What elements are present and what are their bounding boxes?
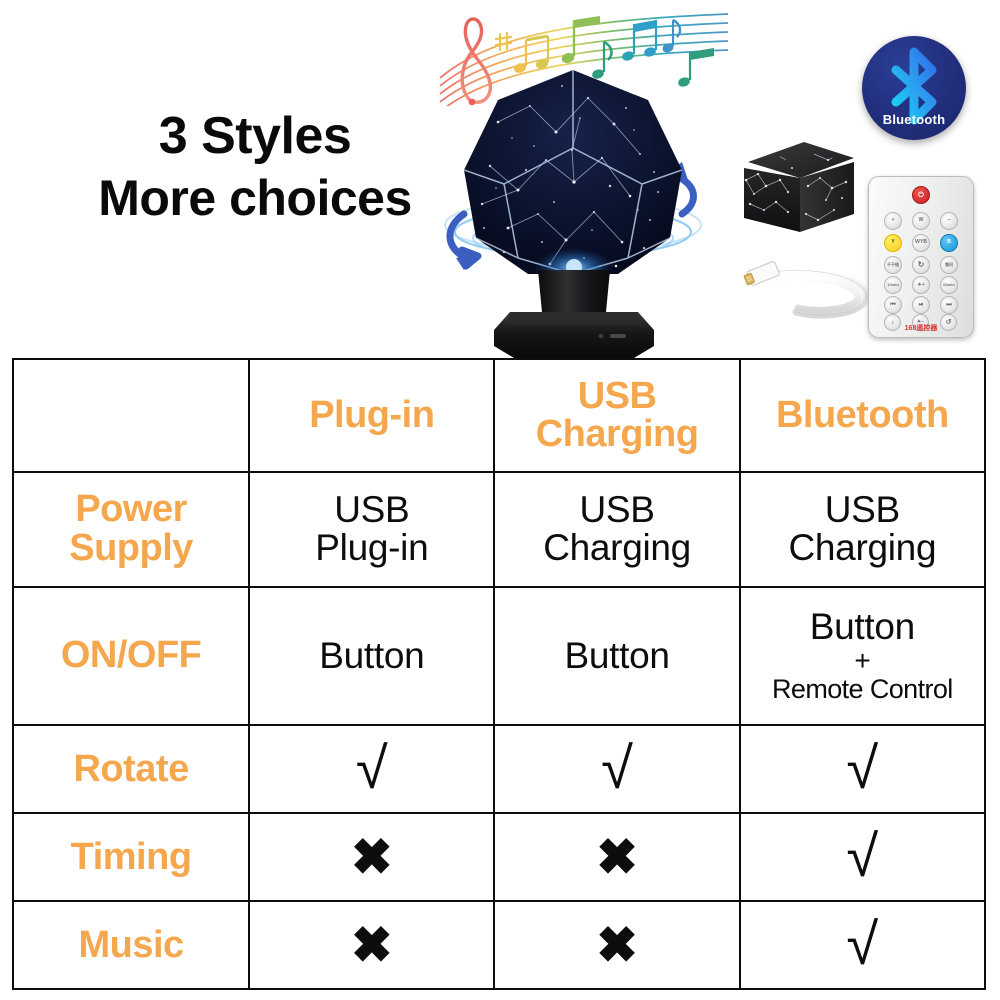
remote-power-button[interactable]: ⏻ bbox=[912, 186, 930, 204]
table-row: Power Supply USB Plug-in USB Charging US… bbox=[13, 472, 985, 587]
cell-on-off-plug-in: Button bbox=[249, 587, 494, 725]
hero-headline: 3 Styles More choices bbox=[55, 105, 455, 229]
cell-on-off-bluetooth: Button + Remote Control bbox=[740, 587, 985, 725]
remote-model-label: 168遥控器 bbox=[868, 323, 974, 333]
cell-music-bluetooth: √ bbox=[740, 901, 985, 989]
check-icon: √ bbox=[846, 740, 878, 798]
headline-line-2: More choices bbox=[55, 168, 455, 229]
table-row: ON/OFF Button Button Button + Remote Con… bbox=[13, 587, 985, 725]
bluetooth-badge: Bluetooth bbox=[862, 36, 966, 140]
remote-y-button[interactable]: Y bbox=[884, 234, 902, 252]
cell-music-plug-in: ✖ bbox=[249, 901, 494, 989]
remote-control: ⏻ + W − Y WYB B 干干结 ↻ 慢闪 10min ☀+ 60min … bbox=[868, 176, 974, 338]
remote-b-button[interactable]: B bbox=[940, 234, 958, 252]
cell-timing-bluetooth: √ bbox=[740, 813, 985, 901]
headline-line-1: 3 Styles bbox=[55, 105, 455, 168]
check-icon: √ bbox=[846, 916, 878, 974]
cell-power-supply-bluetooth: USB Charging bbox=[740, 472, 985, 587]
remote-w-button[interactable]: W bbox=[912, 212, 930, 230]
table-row: Rotate √ √ √ bbox=[13, 725, 985, 813]
usb-cable-icon bbox=[742, 248, 878, 334]
row-label-on-off: ON/OFF bbox=[13, 587, 249, 725]
remote-previous-button[interactable]: ⏮ bbox=[884, 296, 902, 314]
cell-timing-usb-charging: ✖ bbox=[494, 813, 739, 901]
remote-play-pause-button[interactable]: ⏯ bbox=[912, 296, 930, 314]
cell-rotate-plug-in: √ bbox=[249, 725, 494, 813]
hero-section: 3 Styles More choices bbox=[0, 0, 1000, 358]
check-icon: √ bbox=[356, 740, 388, 798]
product-comparison-page: 3 Styles More choices bbox=[0, 0, 1000, 1000]
cell-power-supply-usb-charging: USB Charging bbox=[494, 472, 739, 587]
constellation-gift-box-icon bbox=[730, 128, 862, 240]
row-label-rotate: Rotate bbox=[13, 725, 249, 813]
cell-rotate-bluetooth: √ bbox=[740, 725, 985, 813]
table-row: Timing ✖ ✖ √ bbox=[13, 813, 985, 901]
row-label-timing: Timing bbox=[13, 813, 249, 901]
star-projector-lamp bbox=[438, 62, 708, 358]
header-corner-cell bbox=[13, 359, 249, 472]
remote-next-button[interactable]: ⏭ bbox=[940, 296, 958, 314]
remote-brightness-up-button[interactable]: ☀+ bbox=[912, 276, 930, 294]
cross-icon: ✖ bbox=[596, 920, 638, 970]
cross-icon: ✖ bbox=[596, 832, 638, 882]
table-header-row: Plug-in USB Charging Bluetooth bbox=[13, 359, 985, 472]
cell-music-usb-charging: ✖ bbox=[494, 901, 739, 989]
remote-minus-button[interactable]: − bbox=[940, 212, 958, 230]
row-label-music: Music bbox=[13, 901, 249, 989]
cross-icon: ✖ bbox=[351, 920, 393, 970]
check-icon: √ bbox=[601, 740, 633, 798]
remote-timer-60min-button[interactable]: 60min bbox=[940, 276, 958, 294]
column-header-plug-in: Plug-in bbox=[249, 359, 494, 472]
comparison-table: Plug-in USB Charging Bluetooth Power Sup… bbox=[12, 358, 986, 990]
remote-rotate-button[interactable]: ↻ bbox=[912, 256, 930, 274]
column-header-bluetooth: Bluetooth bbox=[740, 359, 985, 472]
row-label-power-supply: Power Supply bbox=[13, 472, 249, 587]
cross-icon: ✖ bbox=[351, 832, 393, 882]
column-header-usb-charging: USB Charging bbox=[494, 359, 739, 472]
remote-wyb-button[interactable]: WYB bbox=[912, 234, 930, 252]
bluetooth-badge-label: Bluetooth bbox=[862, 112, 966, 127]
table-row: Music ✖ ✖ √ bbox=[13, 901, 985, 989]
remote-mode-right-button[interactable]: 慢闪 bbox=[940, 256, 958, 274]
cell-power-supply-plug-in: USB Plug-in bbox=[249, 472, 494, 587]
remote-timer-10min-button[interactable]: 10min bbox=[884, 276, 902, 294]
remote-mode-left-button[interactable]: 干干结 bbox=[884, 256, 902, 274]
cell-rotate-usb-charging: √ bbox=[494, 725, 739, 813]
cell-timing-plug-in: ✖ bbox=[249, 813, 494, 901]
cell-on-off-usb-charging: Button bbox=[494, 587, 739, 725]
remote-plus-button[interactable]: + bbox=[884, 212, 902, 230]
check-icon: √ bbox=[846, 828, 878, 886]
